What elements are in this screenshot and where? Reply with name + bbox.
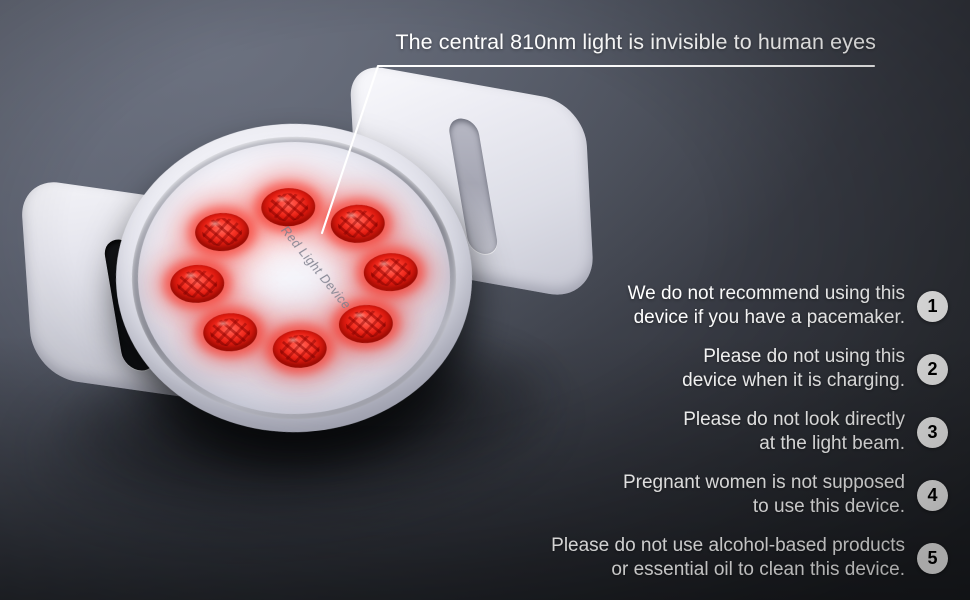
red-led-6 <box>201 311 258 352</box>
headline-callout: The central 810nm light is invisible to … <box>395 30 876 56</box>
warning-number-badge: 4 <box>917 480 948 511</box>
red-led-3 <box>362 252 419 293</box>
warning-text: We do not recommend using thisdevice if … <box>628 282 905 330</box>
warning-text: Please do not use alcohol-based products… <box>551 534 905 582</box>
warning-item: Please do not look directlyat the light … <box>518 408 948 456</box>
device-bezel-ring: Red Light Device <box>121 127 467 428</box>
warning-text: Pregnant women is not supposedto use thi… <box>623 471 905 519</box>
warning-text: Please do not using thisdevice when it i… <box>682 345 905 393</box>
warning-line-2: or essential oil to clean this device. <box>551 558 905 582</box>
warning-text: Please do not look directlyat the light … <box>683 408 905 456</box>
warning-number-badge: 1 <box>917 291 948 322</box>
center-810nm-emitter-icon <box>127 139 147 165</box>
warning-line-1: Please do not look directly <box>683 408 905 432</box>
warning-line-2: to use this device. <box>623 495 905 519</box>
device-light-face: Red Light Device <box>127 133 460 423</box>
warning-number-badge: 3 <box>917 417 948 448</box>
warning-line-1: Pregnant women is not supposed <box>623 471 905 495</box>
warning-line-2: at the light beam. <box>683 432 905 456</box>
warning-item: We do not recommend using thisdevice if … <box>518 282 948 330</box>
warning-item: Please do not use alcohol-based products… <box>518 534 948 582</box>
warning-item: Please do not using thisdevice when it i… <box>518 345 948 393</box>
red-led-7 <box>169 263 226 304</box>
red-led-8 <box>193 212 250 253</box>
warning-line-1: Please do not using this <box>682 345 905 369</box>
warning-line-1: We do not recommend using this <box>628 282 905 306</box>
red-led-4 <box>338 303 395 344</box>
red-led-1 <box>260 187 317 228</box>
infographic-canvas: Red Light Device The central 810nm light… <box>0 0 970 600</box>
warning-item: Pregnant women is not supposedto use thi… <box>518 471 948 519</box>
warning-line-2: device when it is charging. <box>682 369 905 393</box>
warning-line-1: Please do not use alcohol-based products <box>551 534 905 558</box>
red-led-5 <box>271 328 328 369</box>
warnings-list: We do not recommend using thisdevice if … <box>518 282 948 582</box>
red-light-device-render: Red Light Device <box>24 78 604 508</box>
warning-number-badge: 5 <box>917 543 948 574</box>
warning-line-2: device if you have a pacemaker. <box>628 306 905 330</box>
red-led-2 <box>330 203 387 244</box>
warning-number-badge: 2 <box>917 354 948 385</box>
